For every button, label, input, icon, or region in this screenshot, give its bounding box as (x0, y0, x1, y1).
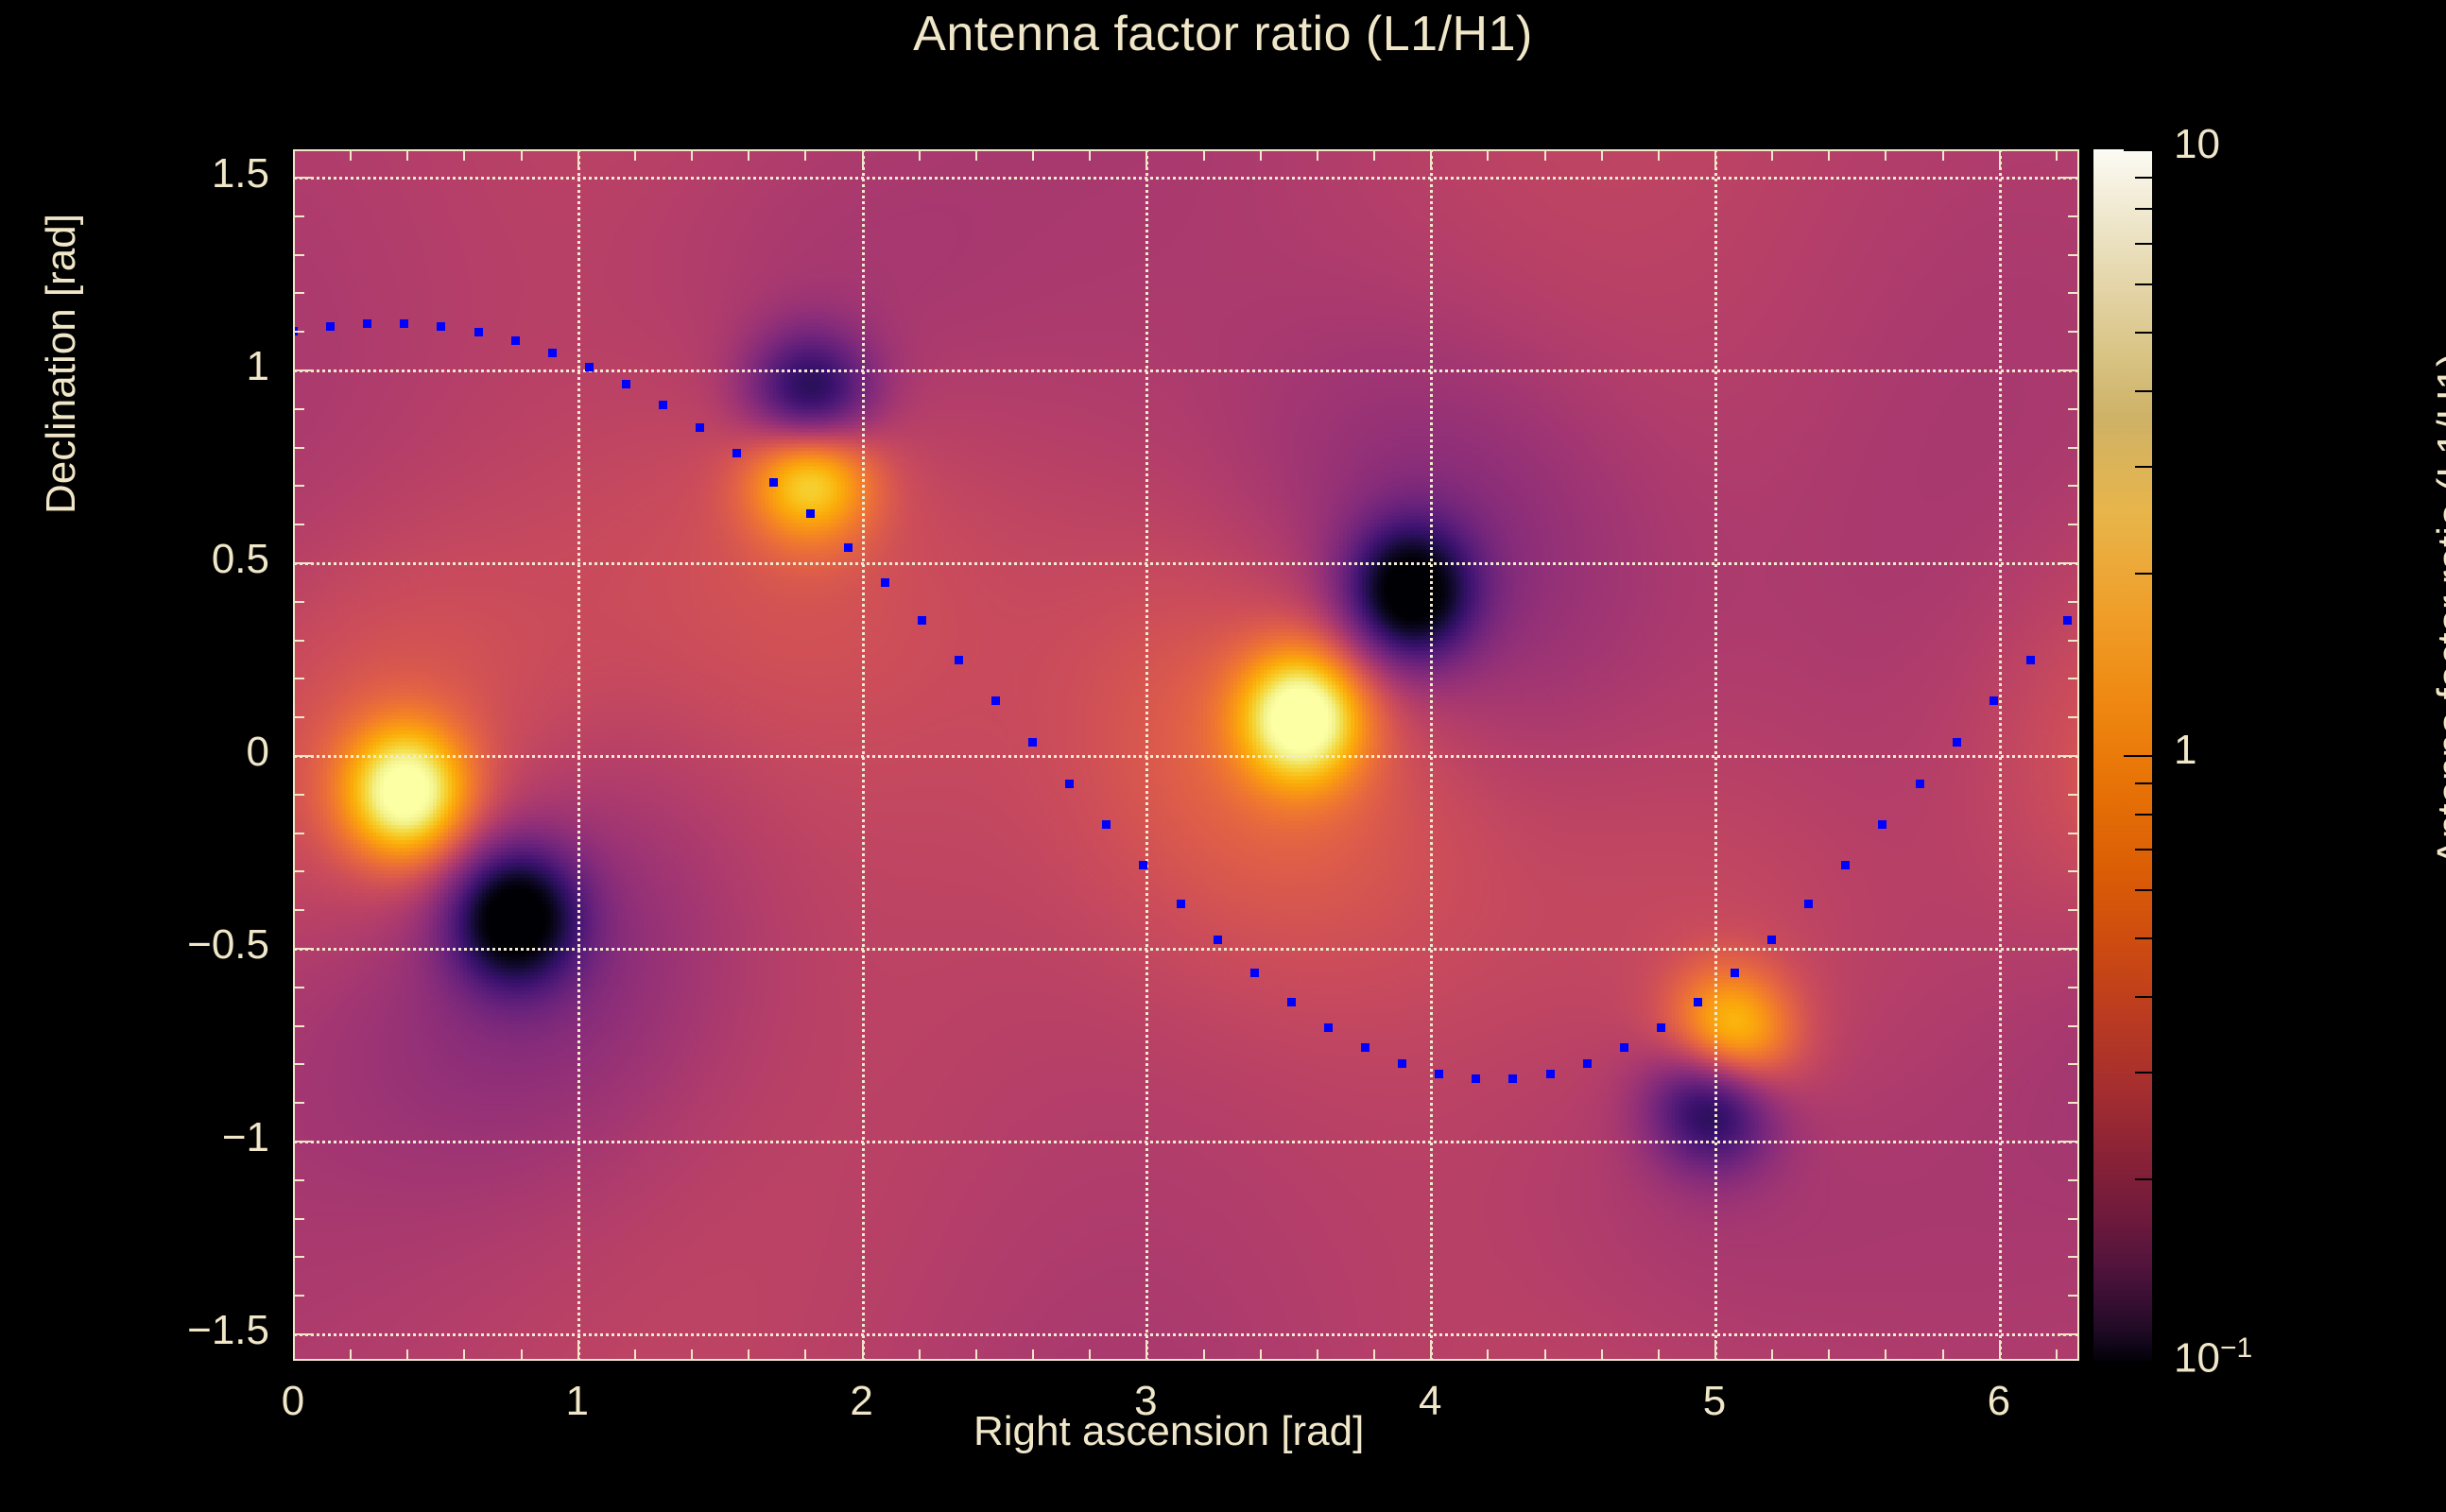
y-tick-label: −0.5 (80, 921, 269, 969)
x-tick-minor-top (1771, 149, 1773, 161)
galactic-plane-marker (1472, 1074, 1480, 1083)
galactic-plane-marker (1398, 1059, 1406, 1068)
x-tick-minor (975, 1349, 977, 1361)
y-tick-minor (293, 254, 304, 256)
x-tick-major (577, 1340, 579, 1361)
y-tick-major-right (2058, 177, 2079, 179)
y-tick-major (293, 948, 314, 950)
y-tick-label: −1 (80, 1114, 269, 1161)
x-tick-minor-top (1260, 149, 1262, 161)
x-tick-minor (804, 1349, 806, 1361)
y-tick-minor (293, 1179, 304, 1181)
galactic-plane-marker (2063, 616, 2072, 625)
colorbar-tick (2135, 1178, 2152, 1180)
y-tick-minor (293, 331, 304, 333)
x-tick-minor-top (634, 149, 636, 161)
galactic-plane-marker (1583, 1059, 1592, 1068)
galactic-plane-marker (326, 322, 335, 331)
y-tick-minor (293, 833, 304, 834)
colorbar-tick (2135, 332, 2152, 334)
colorbar-tick (2135, 573, 2152, 575)
x-tick-minor-top (748, 149, 749, 161)
x-tick-major (1714, 1340, 1716, 1361)
x-tick-major-top (1145, 149, 1147, 170)
x-tick-minor-top (691, 149, 693, 161)
x-tick-major-top (293, 149, 295, 170)
x-tick-minor-top (1317, 149, 1318, 161)
galactic-plane-marker (1546, 1070, 1555, 1078)
y-tick-major (293, 177, 314, 179)
galactic-plane-marker (1508, 1074, 1517, 1083)
x-tick-minor-top (975, 149, 977, 161)
y-tick-minor (293, 678, 304, 679)
y-tick-minor-right (2068, 601, 2079, 603)
y-tick-minor-right (2068, 1295, 2079, 1297)
y-tick-label: 1 (80, 343, 269, 390)
y-tick-major-right (2058, 369, 2079, 371)
x-tick-minor (1601, 1349, 1603, 1361)
galactic-plane-marker (1102, 820, 1111, 829)
galactic-plane-marker (1177, 900, 1185, 908)
galactic-plane-marker (696, 423, 704, 432)
colorbar-tick-label: 1 (2174, 727, 2196, 774)
y-tick-minor-right (2068, 524, 2079, 525)
colorbar-tick (2135, 996, 2152, 998)
galactic-plane-marker (1990, 696, 1998, 705)
y-tick-minor-right (2068, 1102, 2079, 1104)
x-tick-minor (1544, 1349, 1546, 1361)
galactic-plane-marker (991, 696, 1000, 705)
x-tick-minor (919, 1349, 921, 1361)
galactic-plane-marker (437, 322, 445, 331)
y-tick-major (293, 755, 314, 757)
y-axis-title: Declination [rad] (38, 165, 85, 562)
galactic-plane-marker (1916, 780, 1924, 788)
colorbar-tick-label: 10−1 (2174, 1332, 2252, 1383)
y-tick-major (293, 369, 314, 371)
colorbar-tick (2135, 283, 2152, 285)
y-tick-minor-right (2068, 447, 2079, 449)
galactic-plane-marker (881, 578, 889, 587)
x-tick-label: 4 (1373, 1378, 1487, 1425)
y-tick-minor (293, 987, 304, 988)
y-tick-minor-right (2068, 678, 2079, 679)
x-tick-major-top (577, 149, 579, 170)
y-tick-minor-right (2068, 987, 2079, 988)
x-tick-minor-top (1203, 149, 1205, 161)
colorbar-tick (2135, 849, 2152, 850)
galactic-plane-marker (622, 380, 630, 388)
galactic-plane-marker (1694, 998, 1702, 1006)
y-tick-minor (293, 601, 304, 603)
y-tick-major-right (2058, 948, 2079, 950)
x-tick-minor (1317, 1349, 1318, 1361)
galactic-plane-marker (363, 319, 371, 328)
x-tick-minor-top (1544, 149, 1546, 161)
y-tick-minor-right (2068, 1025, 2079, 1027)
galactic-plane-marker (474, 328, 483, 336)
colorbar-title: Antenna factor ratio (L1/H1) (2429, 250, 2446, 969)
y-tick-major (293, 1333, 314, 1335)
galactic-plane-marker (548, 349, 557, 357)
galactic-plane-marker (844, 543, 853, 552)
x-tick-major (1430, 1340, 1432, 1361)
y-tick-label: 0 (80, 729, 269, 776)
x-tick-major (862, 1340, 864, 1361)
x-tick-minor-top (2056, 149, 2058, 161)
x-tick-label: 6 (1942, 1378, 2056, 1425)
y-tick-minor-right (2068, 1063, 2079, 1065)
galactic-plane-marker (585, 363, 594, 371)
x-tick-minor (691, 1349, 693, 1361)
page-title: Antenna factor ratio (L1/H1) (0, 6, 2446, 62)
colorbar-tick (2135, 937, 2152, 939)
y-tick-minor (293, 909, 304, 911)
galactic-plane-marker (1139, 861, 1147, 869)
galactic-plane-marker (806, 509, 815, 518)
galactic-plane-marker (1250, 969, 1259, 977)
galactic-plane-marker (1731, 969, 1739, 977)
colorbar-tick (2135, 466, 2152, 468)
y-tick-major (293, 562, 314, 564)
x-tick-minor (1373, 1349, 1375, 1361)
y-tick-minor-right (2068, 716, 2079, 718)
y-tick-minor-right (2068, 254, 2079, 256)
galactic-plane-marker (1953, 738, 1961, 747)
y-tick-major-right (2058, 1333, 2079, 1335)
x-tick-minor (748, 1349, 749, 1361)
y-tick-minor (293, 870, 304, 872)
x-tick-minor-top (1658, 149, 1660, 161)
y-tick-minor (293, 1063, 304, 1065)
colorbar-tick-label: 10 (2174, 121, 2220, 168)
colorbar-tick (2124, 1361, 2152, 1363)
y-tick-minor (293, 524, 304, 525)
galactic-plane-marker (2026, 656, 2035, 664)
y-tick-minor (293, 1025, 304, 1027)
galactic-plane-marker (1657, 1023, 1665, 1032)
x-tick-minor (1942, 1349, 1944, 1361)
y-tick-major-right (2058, 562, 2079, 564)
y-tick-minor-right (2068, 408, 2079, 410)
x-tick-minor (1658, 1349, 1660, 1361)
y-tick-minor (293, 1295, 304, 1297)
x-tick-minor-top (1601, 149, 1603, 161)
y-tick-label: 0.5 (80, 536, 269, 583)
galactic-plane-marker (1361, 1043, 1369, 1052)
colorbar-tick (2124, 149, 2152, 151)
y-tick-minor (293, 716, 304, 718)
galactic-plane-marker (1435, 1070, 1443, 1078)
colorbar-tick (2135, 208, 2152, 210)
x-tick-minor (1828, 1349, 1830, 1361)
x-tick-minor (1260, 1349, 1262, 1361)
x-tick-minor (350, 1349, 352, 1361)
y-tick-minor-right (2068, 909, 2079, 911)
y-tick-minor (293, 292, 304, 294)
colorbar-tick (2135, 243, 2152, 245)
x-tick-minor-top (406, 149, 408, 161)
galactic-plane-marker (1841, 861, 1850, 869)
x-tick-minor (521, 1349, 523, 1361)
galactic-plane-marker (769, 478, 778, 487)
x-tick-minor-top (350, 149, 352, 161)
x-tick-label: 2 (805, 1378, 919, 1425)
galactic-plane-marker (955, 656, 963, 664)
x-tick-minor-top (919, 149, 921, 161)
galactic-plane-marker (1620, 1043, 1628, 1052)
x-tick-minor-top (521, 149, 523, 161)
x-axis-title: Right ascension [rad] (973, 1408, 1364, 1455)
y-tick-minor-right (2068, 794, 2079, 796)
y-tick-minor (293, 447, 304, 449)
galactic-plane-marker (732, 449, 741, 457)
y-tick-major (293, 1141, 314, 1143)
colorbar-tick (2135, 177, 2152, 179)
x-tick-minor-top (1032, 149, 1034, 161)
galactic-plane-marker (1324, 1023, 1333, 1032)
y-tick-minor-right (2068, 1218, 2079, 1220)
galactic-plane-marker (1878, 820, 1886, 829)
y-tick-minor (293, 1102, 304, 1104)
galactic-plane-overlay (293, 149, 2079, 1361)
x-tick-minor (1203, 1349, 1205, 1361)
colorbar-tick (2135, 814, 2152, 816)
x-tick-label: 1 (521, 1378, 634, 1425)
x-tick-major-top (862, 149, 864, 170)
y-tick-major-right (2058, 1141, 2079, 1143)
y-tick-minor (293, 1256, 304, 1258)
y-tick-minor-right (2068, 1256, 2079, 1258)
galactic-plane-marker (659, 401, 667, 409)
x-tick-minor (406, 1349, 408, 1361)
x-tick-minor (2056, 1349, 2058, 1361)
x-tick-major-top (1430, 149, 1432, 170)
galactic-plane-marker (511, 336, 520, 345)
y-tick-major-right (2058, 755, 2079, 757)
x-tick-minor-top (1373, 149, 1375, 161)
x-tick-major (293, 1340, 295, 1361)
galactic-plane-marker (918, 616, 926, 625)
y-tick-minor-right (2068, 331, 2079, 333)
x-tick-minor-top (804, 149, 806, 161)
y-tick-minor-right (2068, 485, 2079, 487)
galactic-plane-marker (1214, 936, 1222, 944)
x-tick-major (1999, 1340, 2001, 1361)
galactic-plane-marker (1804, 900, 1813, 908)
x-tick-minor (1089, 1349, 1091, 1361)
x-tick-minor-top (1942, 149, 1944, 161)
colorbar-tick (2135, 782, 2152, 784)
y-tick-minor (293, 640, 304, 642)
y-tick-minor (293, 215, 304, 217)
x-tick-label: 0 (236, 1378, 350, 1425)
y-tick-minor (293, 1218, 304, 1220)
x-tick-minor (634, 1349, 636, 1361)
x-tick-major-top (1999, 149, 2001, 170)
colorbar-tick (2135, 889, 2152, 891)
x-tick-minor (463, 1349, 465, 1361)
y-tick-minor (293, 408, 304, 410)
y-tick-label: 1.5 (80, 150, 269, 198)
y-tick-minor-right (2068, 833, 2079, 834)
galactic-plane-marker (400, 319, 408, 328)
x-tick-minor-top (1487, 149, 1489, 161)
x-tick-minor (1885, 1349, 1886, 1361)
x-tick-minor (1032, 1349, 1034, 1361)
y-tick-minor-right (2068, 870, 2079, 872)
x-tick-minor-top (1089, 149, 1091, 161)
galactic-plane-marker (1287, 998, 1296, 1006)
y-tick-minor (293, 794, 304, 796)
y-tick-minor-right (2068, 1179, 2079, 1181)
y-tick-minor (293, 485, 304, 487)
x-tick-minor (1487, 1349, 1489, 1361)
y-tick-minor-right (2068, 292, 2079, 294)
x-tick-minor-top (463, 149, 465, 161)
colorbar-tick (2135, 1072, 2152, 1074)
colorbar-tick (2135, 390, 2152, 392)
x-tick-label: 5 (1658, 1378, 1771, 1425)
y-tick-minor-right (2068, 215, 2079, 217)
y-tick-minor-right (2068, 640, 2079, 642)
x-tick-minor-top (1885, 149, 1886, 161)
galactic-plane-marker (1028, 738, 1037, 747)
galactic-plane-marker (1065, 780, 1074, 788)
colorbar-tick (2124, 755, 2152, 757)
y-tick-label: −1.5 (80, 1307, 269, 1354)
x-tick-major (1145, 1340, 1147, 1361)
x-tick-major-top (1714, 149, 1716, 170)
x-tick-minor (1771, 1349, 1773, 1361)
x-tick-minor-top (1828, 149, 1830, 161)
galactic-plane-marker (1767, 936, 1776, 944)
heatmap-plot-area[interactable] (293, 149, 2079, 1361)
